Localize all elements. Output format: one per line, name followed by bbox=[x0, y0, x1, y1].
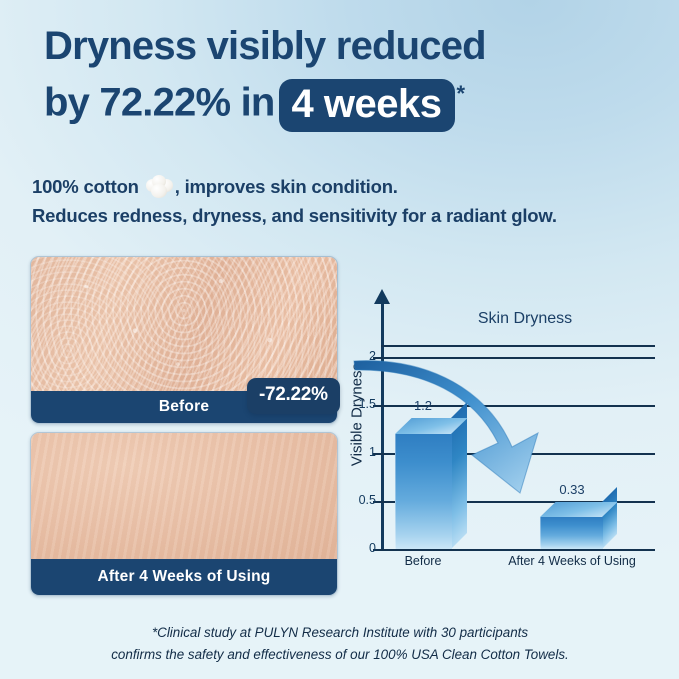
gridline-top-frame bbox=[381, 345, 655, 347]
headline-line-2: by 72.22% in4 weeks* bbox=[44, 70, 644, 130]
gridline-0 bbox=[381, 549, 655, 551]
subtitle: 100% cotton , improves skin condition. R… bbox=[32, 172, 652, 230]
footnote: *Clinical study at PULYN Research Instit… bbox=[40, 622, 640, 666]
x-axis-label-before: Before bbox=[348, 554, 498, 568]
headline: Dryness visibly reduced by 72.22% in4 we… bbox=[44, 22, 644, 130]
decline-arrow-icon bbox=[352, 355, 582, 505]
reduction-badge: -72.22% bbox=[247, 378, 340, 414]
headline-line-1: Dryness visibly reduced bbox=[44, 22, 644, 70]
chart-title: Skin Dryness bbox=[410, 310, 640, 328]
subtitle-line-1-prefix: 100% cotton bbox=[32, 176, 139, 197]
headline-line-2-prefix: by 72.22% in bbox=[44, 80, 275, 124]
after-skin-photo bbox=[31, 433, 337, 559]
footnote-line-1: *Clinical study at PULYN Research Instit… bbox=[40, 622, 640, 644]
subtitle-line-1: 100% cotton , improves skin condition. bbox=[32, 172, 652, 201]
headline-asterisk: * bbox=[457, 81, 465, 106]
footnote-line-2: confirms the safety and effectiveness of… bbox=[40, 644, 640, 666]
cotton-boll-icon bbox=[146, 175, 173, 199]
bar-side-face bbox=[602, 487, 617, 549]
subtitle-line-2: Reduces redness, dryness, and sensitivit… bbox=[32, 201, 652, 230]
bar-after bbox=[540, 502, 617, 549]
headline-pill-4-weeks: 4 weeks bbox=[279, 79, 455, 132]
subtitle-line-1-suffix: , improves skin condition. bbox=[175, 176, 398, 197]
after-photo-card: After 4 Weeks of Using bbox=[30, 432, 338, 596]
y-tick-label-0: 0 bbox=[336, 541, 376, 555]
promo-infographic: Dryness visibly reduced by 72.22% in4 we… bbox=[0, 0, 679, 679]
bar-front-face bbox=[540, 517, 603, 549]
before-skin-photo bbox=[31, 257, 337, 391]
after-caption: After 4 Weeks of Using bbox=[31, 559, 337, 595]
x-axis-label-after: After 4 Weeks of Using bbox=[497, 554, 647, 568]
